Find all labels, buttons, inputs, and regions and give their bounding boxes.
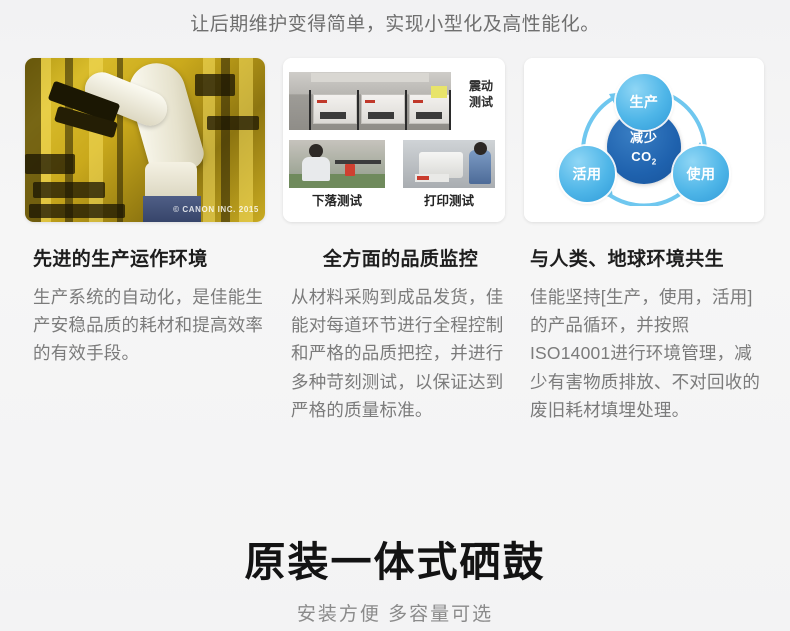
co2-cycle-diagram: 减少 CO2 生产 活用 使用 — [524, 58, 764, 222]
bottom-subtitle: 安装方便 多容量可选 — [0, 599, 790, 626]
co2-center-line2: CO2 — [631, 149, 656, 167]
drop-test-photo — [289, 140, 385, 188]
feature-heading-environment: 与人类、地球环境共生 — [530, 248, 765, 272]
co2-node-usage[interactable]: 使用 — [673, 146, 729, 202]
vibration-test-label: 震动 测试 — [459, 78, 503, 110]
card-co2-cycle[interactable]: 减少 CO2 生产 活用 使用 — [524, 58, 764, 222]
vibration-test-label-line1: 震动 — [459, 78, 503, 94]
print-test-caption: 打印测试 — [403, 190, 495, 209]
feature-body-quality: 从材料采购到成品发货，佳能对每道环节进行全程控制和严格的品质把控，并进行多种苛刻… — [291, 283, 510, 425]
bottom-section: 原装一体式硒鼓 安装方便 多容量可选 — [0, 540, 790, 626]
vibration-test-photo — [289, 72, 451, 130]
robot-arm-photo: © CANON INC. 2015 — [25, 58, 265, 222]
feature-body-environment: 佳能坚持[生产，使用，活用]的产品循环，并按照ISO14001进行环境管理，减少… — [530, 283, 765, 425]
feature-card-row: © CANON INC. 2015 震动 测 — [0, 58, 790, 224]
co2-node-recycle[interactable]: 活用 — [559, 146, 615, 202]
feature-column-environment: 与人类、地球环境共生 佳能坚持[生产，使用，活用]的产品循环，并按照ISO140… — [530, 248, 765, 424]
page-root: 让后期维护变得简单，实现小型化及高性能化。 — [0, 0, 790, 631]
print-test-photo — [403, 140, 495, 188]
card-production-environment[interactable]: © CANON INC. 2015 — [25, 58, 265, 222]
bottom-title: 原装一体式硒鼓 — [0, 540, 790, 585]
canon-watermark: © CANON INC. 2015 — [173, 205, 259, 214]
feature-body-production: 生产系统的自动化，是佳能生产安稳品质的耗材和提高效率的有效手段。 — [33, 283, 276, 368]
co2-node-production[interactable]: 生产 — [616, 74, 672, 130]
feature-column-production: 先进的生产运作环境 生产系统的自动化，是佳能生产安稳品质的耗材和提高效率的有效手… — [33, 248, 276, 368]
intro-headline: 让后期维护变得简单，实现小型化及高性能化。 — [0, 0, 790, 44]
co2-center-line1: 减少 — [630, 127, 658, 146]
card-quality-testing[interactable]: 震动 测试 下落测试 打印测试 — [283, 58, 505, 222]
quality-test-collage: 震动 测试 下落测试 打印测试 — [283, 58, 505, 222]
vibration-test-label-line2: 测试 — [459, 94, 503, 110]
feature-column-quality: 全方面的品质监控 从材料采购到成品发货，佳能对每道环节进行全程控制和严格的品质把… — [291, 248, 510, 424]
drop-test-caption: 下落测试 — [289, 190, 385, 209]
feature-heading-production: 先进的生产运作环境 — [33, 248, 276, 272]
feature-heading-quality: 全方面的品质监控 — [291, 248, 510, 272]
